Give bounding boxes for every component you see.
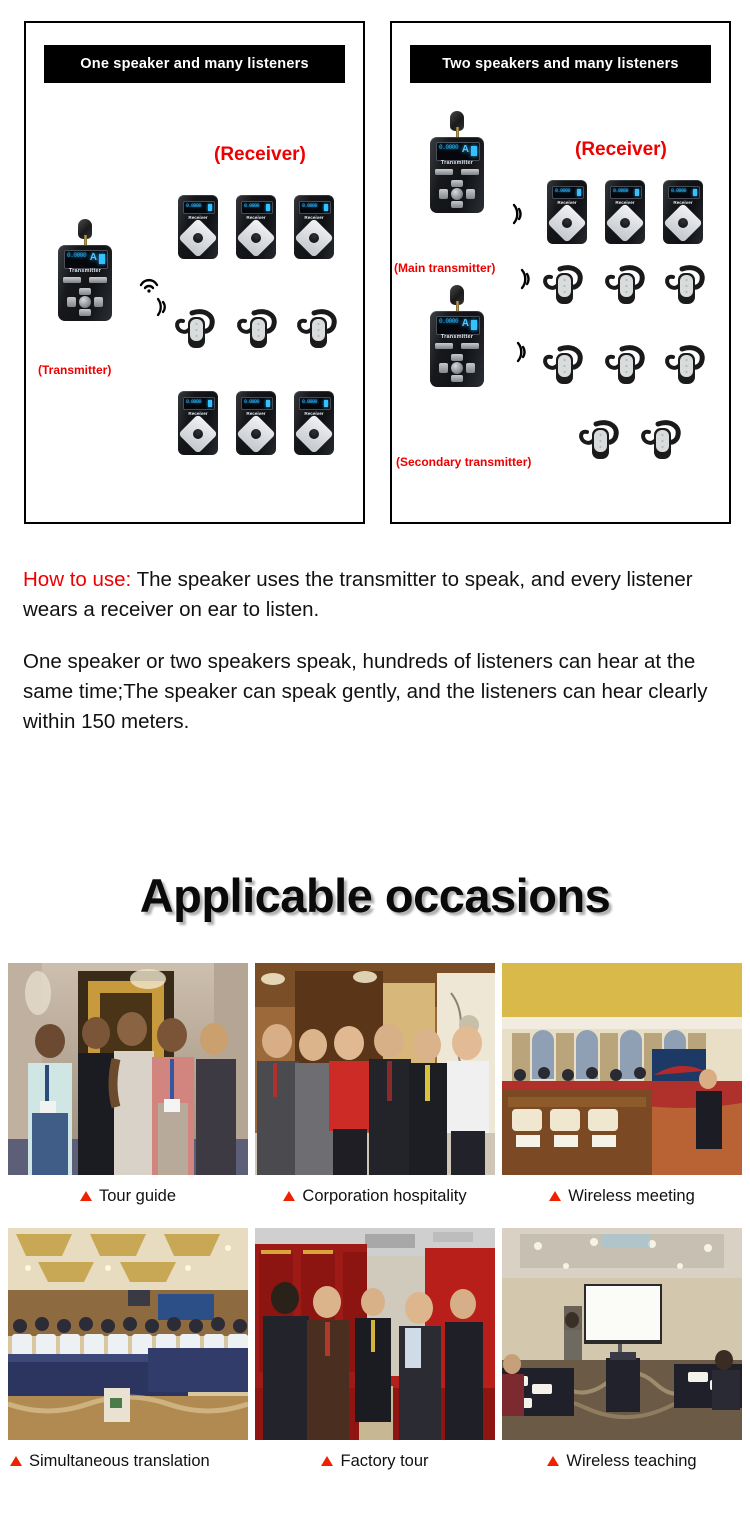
receiver-control-pad: [294, 414, 334, 454]
transmitter-button-row: [435, 169, 479, 175]
label-receiver-right: (Receiver): [575, 139, 667, 161]
capability-paragraph: One speaker or two speakers speak, hundr…: [23, 647, 729, 737]
panel-header-two-speakers: Two speakers and many listeners: [410, 45, 711, 83]
receiver-control-pad: [236, 218, 276, 258]
earpiece-device: [604, 343, 650, 387]
transmitter-button-row: [63, 277, 107, 283]
diagram-panel-two-speakers: Two speakers and many listeners (Receive…: [390, 21, 731, 524]
occasion-cell: Factory tour: [255, 1228, 495, 1482]
receiver-device: 0.0000 Receiver: [663, 180, 703, 244]
transmitter-body: 0.0000 A Transmitter: [58, 245, 112, 321]
occasion-cell: Corporation hospitality: [255, 963, 495, 1217]
section-title-applicable-occasions: Applicable occasions: [0, 868, 750, 923]
transmitter-dpad: [67, 288, 103, 316]
lcd-segment-value: 0.0000: [186, 204, 201, 209]
occasion-photo-corporation-hospitality: [255, 963, 495, 1175]
receiver-device: 0.0000 Receiver: [236, 391, 276, 455]
label-transmitter-left: (Transmitter): [38, 363, 111, 377]
lcd-segment-value: 0.0000: [244, 204, 259, 209]
lcd-channel-value: A: [462, 145, 469, 155]
battery-icon: [99, 254, 105, 264]
receiver-device: 0.0000 Receiver: [605, 180, 645, 244]
occasion-cell: Wireless meeting: [502, 963, 742, 1217]
lcd-channel-value: A: [462, 319, 469, 329]
receiver-device: 0.0000 Receiver: [236, 195, 276, 259]
transmitter-body: 0.0000 A Transmitter: [430, 137, 484, 213]
receiver-control-pad: [236, 414, 276, 454]
occasion-caption-label: Wireless meeting: [568, 1187, 695, 1206]
earpiece-device: [664, 343, 710, 387]
occasion-photo-factory-tour: [255, 1228, 495, 1440]
diagram-section: One speaker and many listeners (Receiver…: [0, 0, 750, 540]
label-receiver-left: (Receiver): [214, 144, 306, 166]
how-to-use-paragraph: How to use: The speaker uses the transmi…: [23, 565, 729, 625]
occasion-caption: Wireless teaching: [502, 1440, 742, 1482]
receiver-control-pad: [178, 218, 218, 258]
lcd-channel-value: A: [90, 253, 97, 263]
transmitter-body: 0.0000 A Transmitter: [430, 311, 484, 387]
earpiece-device: [296, 307, 342, 351]
earpiece-device: [640, 418, 686, 462]
occasion-photo-simultaneous-translation: [8, 1228, 248, 1440]
panel-header-label: One speaker and many listeners: [80, 56, 308, 72]
lcd-segment-value: 0.0000: [244, 400, 259, 405]
lcd-segment-value: 0.0000: [302, 400, 317, 405]
panel-header-label: Two speakers and many listeners: [442, 56, 678, 72]
battery-icon: [471, 146, 477, 156]
occasion-caption: Wireless meeting: [502, 1175, 742, 1217]
triangle-marker-icon: [283, 1191, 295, 1201]
occasion-caption-label: Factory tour: [340, 1452, 428, 1471]
occasion-photo-wireless-teaching: [502, 1228, 742, 1440]
occasion-cell: Tour guide: [8, 963, 248, 1217]
earpiece-device: [542, 263, 588, 307]
description-block: How to use: The speaker uses the transmi…: [23, 565, 729, 737]
lcd-segment-value: 0.0000: [439, 145, 458, 150]
transmitter-lcd: 0.0000 A: [64, 250, 108, 269]
signal-wave-icon: [154, 295, 176, 319]
receiver-control-pad: [663, 203, 703, 243]
occasion-caption: Simultaneous translation: [8, 1440, 248, 1482]
receiver-control-pad: [547, 203, 587, 243]
battery-icon: [577, 189, 581, 196]
lcd-segment-value: 0.0000: [671, 189, 686, 194]
diagram-panel-one-speaker: One speaker and many listeners (Receiver…: [24, 21, 365, 524]
receiver-control-pad: [605, 203, 645, 243]
triangle-marker-icon: [547, 1456, 559, 1466]
transmitter-device: 0.0000 A Transmitter: [58, 219, 112, 321]
occasion-photo-tour-guide: [8, 963, 248, 1175]
battery-icon: [266, 400, 270, 407]
triangle-marker-icon: [80, 1191, 92, 1201]
occasion-photo-wireless-meeting: [502, 963, 742, 1175]
receiver-device: 0.0000 Receiver: [294, 195, 334, 259]
earpiece-device: [236, 307, 282, 351]
occasion-caption-label: Simultaneous translation: [29, 1452, 210, 1471]
earpiece-device: [578, 418, 624, 462]
transmitter-lcd: 0.0000 A: [436, 142, 480, 161]
receiver-device: 0.0000 Receiver: [178, 391, 218, 455]
earpiece-device: [542, 343, 588, 387]
transmitter-caption: Transmitter: [430, 334, 484, 340]
signal-wave-icon: [518, 266, 540, 292]
battery-icon: [208, 204, 212, 211]
occasions-row: Simultaneous translation: [8, 1228, 742, 1482]
main-transmitter-device: 0.0000 A Transmitter: [430, 111, 484, 213]
receiver-control-pad: [178, 414, 218, 454]
occasion-caption: Tour guide: [8, 1175, 248, 1217]
occasion-cell: Wireless teaching: [502, 1228, 742, 1482]
receiver-control-pad: [294, 218, 334, 258]
occasion-caption-label: Corporation hospitality: [302, 1187, 466, 1206]
triangle-marker-icon: [549, 1191, 561, 1201]
occasion-caption: Factory tour: [255, 1440, 495, 1482]
lcd-segment-value: 0.0000: [186, 400, 201, 405]
battery-icon: [324, 400, 328, 407]
receiver-device: 0.0000 Receiver: [294, 391, 334, 455]
battery-icon: [324, 204, 328, 211]
battery-icon: [471, 320, 477, 330]
battery-icon: [693, 189, 697, 196]
signal-wave-icon: [514, 339, 536, 365]
lcd-segment-value: 0.0000: [613, 189, 628, 194]
occasion-cell: Simultaneous translation: [8, 1228, 248, 1482]
transmitter-button-row: [435, 343, 479, 349]
occasion-caption: Corporation hospitality: [255, 1175, 495, 1217]
receiver-device: 0.0000 Receiver: [178, 195, 218, 259]
earpiece-device: [604, 263, 650, 307]
earpiece-device: [174, 307, 220, 351]
lcd-segment-value: 0.0000: [555, 189, 570, 194]
occasion-caption-label: Wireless teaching: [566, 1452, 696, 1471]
triangle-marker-icon: [10, 1456, 22, 1466]
occasion-caption-label: Tour guide: [99, 1187, 176, 1206]
label-secondary-transmitter: (Secondary transmitter): [396, 455, 531, 469]
battery-icon: [208, 400, 212, 407]
battery-icon: [266, 204, 270, 211]
transmitter-dpad: [439, 180, 475, 208]
transmitter-caption: Transmitter: [430, 160, 484, 166]
occasions-grid: Tour guide: [8, 963, 742, 1482]
earpiece-device: [664, 263, 710, 307]
signal-wave-icon: [510, 201, 532, 227]
label-main-transmitter: (Main transmitter): [394, 261, 495, 275]
transmitter-caption: Transmitter: [58, 268, 112, 274]
secondary-transmitter-device: 0.0000 A Transmitter: [430, 285, 484, 387]
triangle-marker-icon: [321, 1456, 333, 1466]
battery-icon: [635, 189, 639, 196]
panel-header-one-speaker: One speaker and many listeners: [44, 45, 345, 83]
receiver-device: 0.0000 Receiver: [547, 180, 587, 244]
lcd-segment-value: 0.0000: [302, 204, 317, 209]
transmitter-dpad: [439, 354, 475, 382]
occasions-row: Tour guide: [8, 963, 742, 1217]
lcd-segment-value: 0.0000: [67, 253, 86, 258]
signal-wave-icon: [136, 268, 162, 294]
lcd-segment-value: 0.0000: [439, 319, 458, 324]
transmitter-lcd: 0.0000 A: [436, 316, 480, 335]
how-to-use-label: How to use:: [23, 568, 131, 591]
